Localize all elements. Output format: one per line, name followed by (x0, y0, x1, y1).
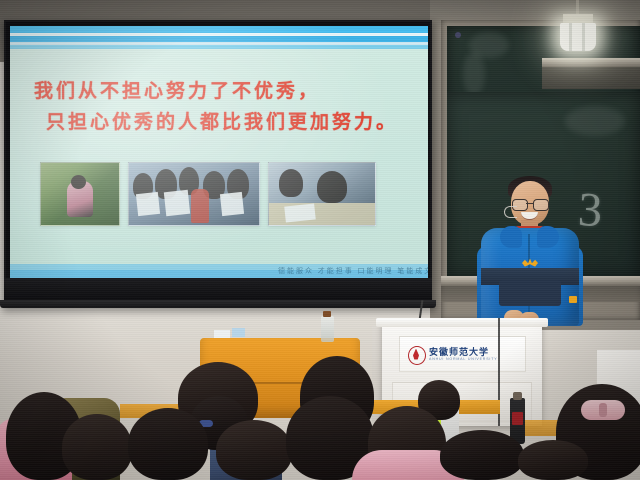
photo-paper (136, 192, 160, 216)
university-name-en: ANHUI NORMAL UNIVERSITY (429, 357, 497, 362)
glass-bottle (321, 316, 334, 342)
slide-headline-line2: 只担心优秀的人都比我们更加努力。 (34, 107, 414, 138)
desk-item-box (214, 330, 230, 338)
slide-photo-2 (128, 162, 260, 226)
glasses-bridge (526, 203, 533, 204)
classroom-lecture-photo: 3 我们从不担心努力了不优秀， 只担心优秀的人都比我们更加努力。 (0, 0, 640, 480)
photo-figure (279, 169, 303, 197)
slide-photo-3 (268, 162, 376, 226)
slide-headline: 我们从不担心努力了不优秀， 只担心优秀的人都比我们更加努力。 (34, 76, 414, 138)
glass-bottle-cap (323, 311, 331, 317)
podium-nameplate: 安徽师范大学 ANHUI NORMAL UNIVERSITY (399, 336, 526, 372)
audience-head (62, 414, 132, 480)
slide-photo-1 (40, 162, 120, 226)
university-name-cn: 安徽师范大学 (429, 347, 497, 357)
screen-glare (10, 26, 428, 278)
audience-head (216, 420, 292, 480)
water-bottle-cap (513, 392, 522, 400)
blackboard-magnet (455, 32, 461, 38)
audience-head (128, 408, 208, 480)
jacket-panel (499, 280, 561, 306)
screen-roller (0, 300, 436, 308)
podium-nameplate-text: 安徽师范大学 ANHUI NORMAL UNIVERSITY (429, 347, 497, 362)
audience-head (440, 430, 524, 480)
water-bottle-label (512, 412, 523, 425)
blackboard-ledge-shadow (542, 67, 640, 89)
slide-banner-stripe (10, 45, 428, 49)
projection-screen: 我们从不担心努力了不优秀， 只担心优秀的人都比我们更加努力。 德能服众 才能担事… (10, 26, 428, 278)
jacket-tag-icon (569, 296, 577, 303)
audience-head (518, 440, 588, 480)
chalk-smudge (565, 106, 625, 136)
speaker-hood (537, 226, 559, 248)
photo-paper (284, 203, 316, 222)
desk-item-box (232, 328, 245, 337)
speaker-hood (500, 226, 522, 248)
podium-top-surface (376, 318, 548, 327)
chalk-writing: 3 (577, 183, 620, 243)
chalk-smudge (463, 52, 485, 96)
university-logo-icon (408, 346, 424, 363)
photo-paper (164, 190, 190, 216)
photo-red-coat (191, 189, 209, 223)
slide-banner-stripe (10, 26, 428, 33)
slide-headline-line1: 我们从不担心努力了不优秀， (34, 81, 320, 102)
slide-footer-text: 德能服众 才能担事 口能明理 笔能成文 (278, 265, 428, 277)
headset-mic-icon (504, 206, 517, 218)
hair-bow-icon (581, 400, 625, 420)
photo-paper (220, 192, 244, 216)
blackboard-ledge (542, 58, 640, 67)
glasses-icon (533, 199, 549, 211)
photo-figure (317, 171, 347, 203)
ceiling-light-icon (560, 23, 596, 51)
